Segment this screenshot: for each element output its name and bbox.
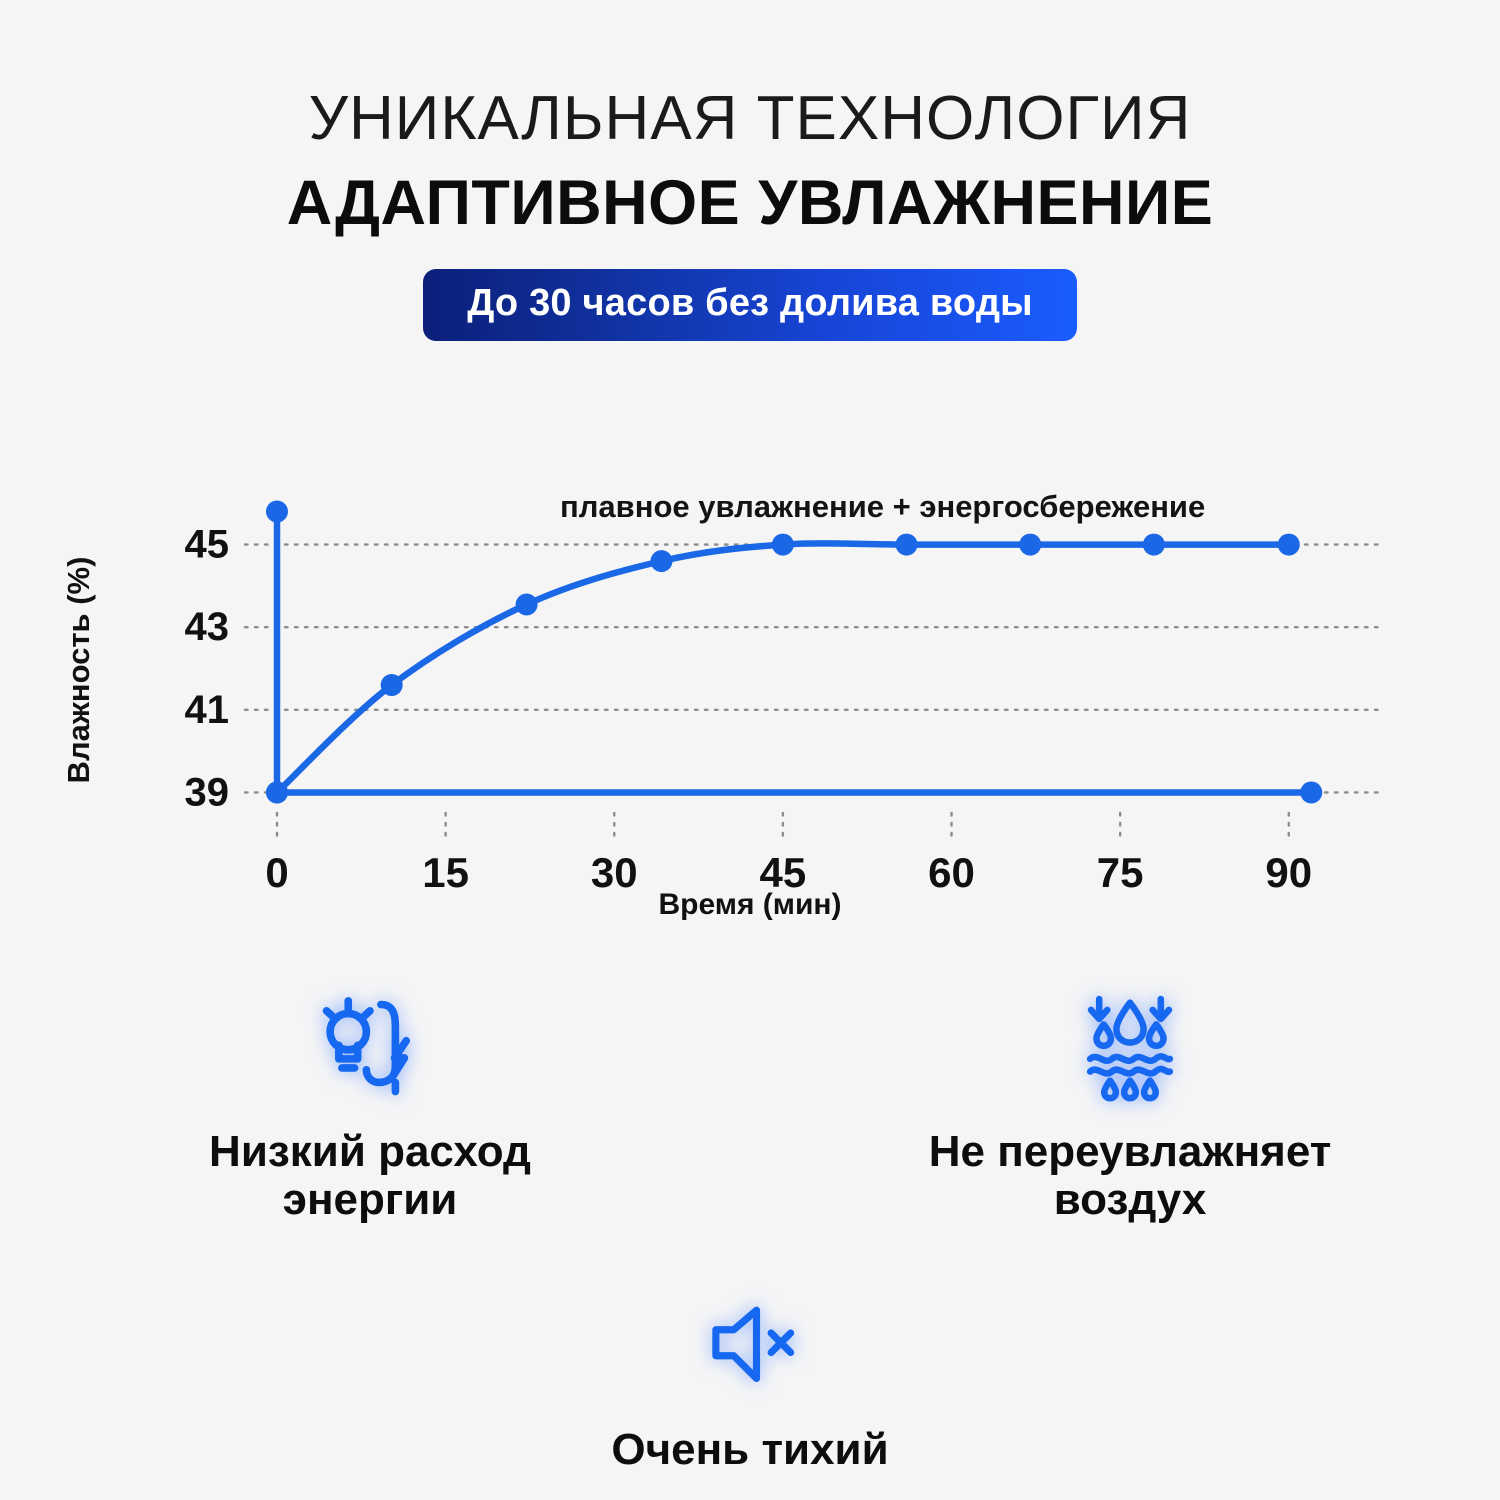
energy-plug-bulb-icon	[110, 985, 630, 1110]
page-title-line-1: УНИКАЛЬНАЯ ТЕХНОЛОГИЯ	[0, 0, 1500, 150]
status-badge: До 30 часов без долива воды	[423, 269, 1077, 341]
chart-data-point	[381, 674, 403, 696]
header: УНИКАЛЬНАЯ ТЕХНОЛОГИЯ АДАПТИВНОЕ УВЛАЖНЕ…	[0, 0, 1500, 341]
features-row-top: Низкий расход энергии Не переувлажняет в…	[0, 985, 1500, 1223]
feature-label: Очень тихий	[470, 1426, 1030, 1474]
chart-data-point	[266, 501, 288, 523]
y-tick-label: 45	[185, 523, 230, 567]
chart-data-point	[266, 781, 288, 803]
chart-data-point	[516, 593, 538, 615]
chart-canvas: 39414345 0153045607590	[0, 440, 1500, 950]
humidity-chart: 39414345 0153045607590	[0, 440, 1500, 950]
y-tick-label: 41	[185, 688, 230, 732]
chart-data-point	[650, 550, 672, 572]
feature-very-quiet: Очень тихий	[470, 1283, 1030, 1474]
chart-x-axis-label: Время (мин)	[0, 888, 1500, 922]
speaker-mute-icon	[470, 1283, 1030, 1408]
feature-label: Не переувлажняет воздух	[870, 1128, 1390, 1223]
features-row-bottom: Очень тихий	[0, 1283, 1500, 1474]
chart-data-point	[1278, 534, 1300, 556]
page-title-line-2: АДАПТИВНОЕ УВЛАЖНЕНИЕ	[0, 150, 1500, 235]
feature-low-energy: Низкий расход энергии	[110, 985, 630, 1223]
feature-label: Низкий расход энергии	[110, 1128, 630, 1223]
chart-gridlines	[245, 545, 1380, 841]
humidity-drops-waves-icon	[870, 985, 1390, 1110]
chart-series-layer	[266, 501, 1322, 804]
chart-data-point	[896, 534, 918, 556]
chart-data-point	[1143, 534, 1165, 556]
chart-data-point	[1300, 781, 1322, 803]
chart-data-point	[772, 534, 794, 556]
badge-container: До 30 часов без долива воды	[0, 269, 1500, 341]
chart-line	[277, 543, 1289, 792]
chart-y-tick-labels: 39414345	[185, 523, 230, 815]
feature-no-overhumidify: Не переувлажняет воздух	[870, 985, 1390, 1223]
chart-data-point	[1019, 534, 1041, 556]
features-section: Низкий расход энергии Не переувлажняет в…	[0, 985, 1500, 1474]
y-tick-label: 43	[185, 605, 230, 649]
y-tick-label: 39	[185, 770, 230, 814]
